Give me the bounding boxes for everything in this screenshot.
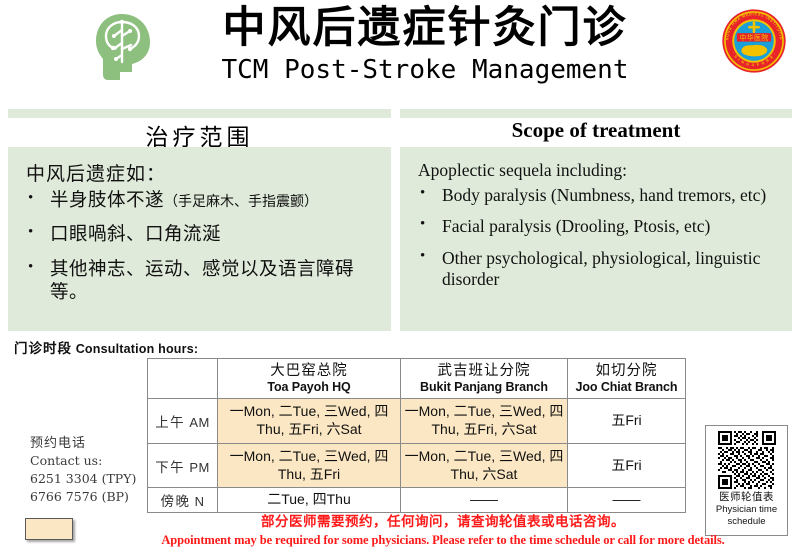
col-header-en: Joo Chiat Branch — [570, 380, 683, 395]
row-header-night: 傍晚 N — [148, 488, 218, 513]
list-item: 半身肢体不遂（手足麻木、手指震颤） — [16, 190, 383, 213]
contact-label-en: Contact us: — [30, 452, 148, 470]
consultation-schedule-table: 大巴窑总院 Toa Payoh HQ 武吉班让分院 Bukit Panjang … — [147, 358, 686, 513]
cell-pm-toa-payoh: 一Mon, 二Tue, 三Wed, 四Thu, 五Fri — [218, 444, 401, 488]
bullet-main-text: 其他神志、运动、感觉以及语言障碍等。 — [50, 260, 354, 303]
contact-block: 预约电话 Contact us: 6251 3304 (TPY) 6766 75… — [30, 434, 148, 506]
row-header-en: PM — [189, 460, 210, 475]
consultation-hours-label: 门诊时段 Consultation hours: — [14, 337, 198, 357]
cell-night-joo-chiat: —— — [568, 488, 686, 513]
footer-note-cn: 部分医师需要预约，任何询问，请查询轮值表或电话咨询。 — [86, 512, 800, 532]
footer-note-en: Appointment may be required for some phy… — [86, 532, 800, 549]
svg-text:中华医院: 中华医院 — [739, 33, 768, 42]
contact-label-cn: 预约电话 — [30, 434, 148, 452]
left-panel-heading: 治疗范围 — [8, 118, 391, 147]
row-header-en: N — [195, 494, 205, 509]
right-panel-heading-text: Scope of treatment — [512, 118, 681, 142]
right-panel-top-bar — [400, 109, 792, 118]
row-header-en: AM — [189, 415, 210, 430]
table-row: 上午 AM 一Mon, 二Tue, 三Wed, 四Thu, 五Fri, 六Sat… — [148, 399, 686, 444]
consultation-hours-label-en: Consultation hours: — [76, 342, 199, 356]
consultation-hours-label-cn: 门诊时段 — [14, 341, 72, 356]
bullet-sub-text: （手足麻木、手指震颤） — [164, 195, 318, 210]
table-col-joo-chiat: 如切分院 Joo Chiat Branch — [568, 359, 686, 399]
col-header-cn: 武吉班让分院 — [403, 363, 565, 380]
qr-code-icon[interactable] — [718, 431, 776, 489]
table-col-toa-payoh: 大巴窑总院 Toa Payoh HQ — [218, 359, 401, 399]
cell-night-toa-payoh: 二Tue, 四Thu — [218, 488, 401, 513]
table-row: 下午 PM 一Mon, 二Tue, 三Wed, 四Thu, 五Fri 一Mon,… — [148, 444, 686, 488]
cell-pm-bukit-panjang: 一Mon, 二Tue, 三Wed, 四Thu, 六Sat — [401, 444, 568, 488]
left-panel-lead: 中风后遗症如： — [26, 159, 383, 186]
cell-am-toa-payoh: 一Mon, 二Tue, 三Wed, 四Thu, 五Fri, 六Sat — [218, 399, 401, 444]
table-col-bukit-panjang: 武吉班让分院 Bukit Panjang Branch — [401, 359, 568, 399]
right-panel-bullet-list: Body paralysis (Numbness, hand tremors, … — [408, 185, 784, 290]
col-header-cn: 如切分院 — [570, 363, 683, 380]
page-title-en: TCM Post-Stroke Management — [160, 54, 690, 87]
col-header-cn: 大巴窑总院 — [220, 363, 398, 380]
bullet-main-text: 半身肢体不遂 — [50, 191, 164, 211]
left-panel-bullet-list: 半身肢体不遂（手足麻木、手指震颤） 口眼喎斜、口角流涎 其他神志、运动、感觉以及… — [16, 190, 383, 306]
page-title-cn: 中风后遗症针灸门诊 — [160, 4, 690, 55]
list-item: Other psychological, physiological, ling… — [408, 248, 784, 291]
qr-caption-cn: 医师轮值表 — [706, 491, 787, 504]
cell-am-bukit-panjang: 一Mon, 二Tue, 三Wed, 四Thu, 五Fri, 六Sat — [401, 399, 568, 444]
table-corner-cell — [148, 359, 218, 399]
page-title: 中风后遗症针灸门诊 TCM Post-Stroke Management — [160, 4, 690, 86]
legend-color-swatch — [25, 518, 73, 540]
right-panel-heading: Scope of treatment — [400, 118, 792, 147]
row-header-pm: 下午 PM — [148, 444, 218, 488]
bullet-main-text: 口眼喎斜、口角流涎 — [50, 225, 221, 245]
cell-pm-joo-chiat: 五Fri — [568, 444, 686, 488]
footer-note: 部分医师需要预约，任何询问，请查询轮值表或电话咨询。 Appointment m… — [86, 512, 800, 548]
right-panel-body: Apoplectic sequela including: Body paral… — [400, 147, 792, 331]
row-header-cn: 傍晚 — [160, 494, 190, 509]
contact-phone-bp[interactable]: 6766 7576 (BP) — [30, 488, 148, 506]
chung-hwa-medical-institution-logo: 中华医院 CHUNG HWA MEDICAL INSTITUTION · S I… — [721, 8, 787, 74]
left-panel-top-bar — [8, 109, 391, 118]
col-header-en: Toa Payoh HQ — [220, 380, 398, 395]
contact-phone-tpy[interactable]: 6251 3304 (TPY) — [30, 470, 148, 488]
list-item: 口眼喎斜、口角流涎 — [16, 224, 383, 247]
right-panel-lead: Apoplectic sequela including: — [418, 160, 784, 181]
brain-head-icon — [92, 12, 156, 82]
row-header-cn: 下午 — [155, 460, 185, 475]
left-panel-body: 中风后遗症如： 半身肢体不遂（手足麻木、手指震颤） 口眼喎斜、口角流涎 其他神志… — [8, 147, 391, 331]
list-item: Body paralysis (Numbness, hand tremors, … — [408, 185, 784, 206]
page-header: 中风后遗症针灸门诊 TCM Post-Stroke Management 中华医… — [0, 0, 800, 108]
table-row: 傍晚 N 二Tue, 四Thu —— —— — [148, 488, 686, 513]
col-header-en: Bukit Panjang Branch — [403, 380, 565, 395]
table-header-row: 大巴窑总院 Toa Payoh HQ 武吉班让分院 Bukit Panjang … — [148, 359, 686, 399]
cell-am-joo-chiat: 五Fri — [568, 399, 686, 444]
list-item: Facial paralysis (Drooling, Ptosis, etc) — [408, 216, 784, 237]
row-header-am: 上午 AM — [148, 399, 218, 444]
list-item: 其他神志、运动、感觉以及语言障碍等。 — [16, 259, 383, 306]
cell-night-bukit-panjang: —— — [401, 488, 568, 513]
row-header-cn: 上午 — [155, 415, 185, 430]
